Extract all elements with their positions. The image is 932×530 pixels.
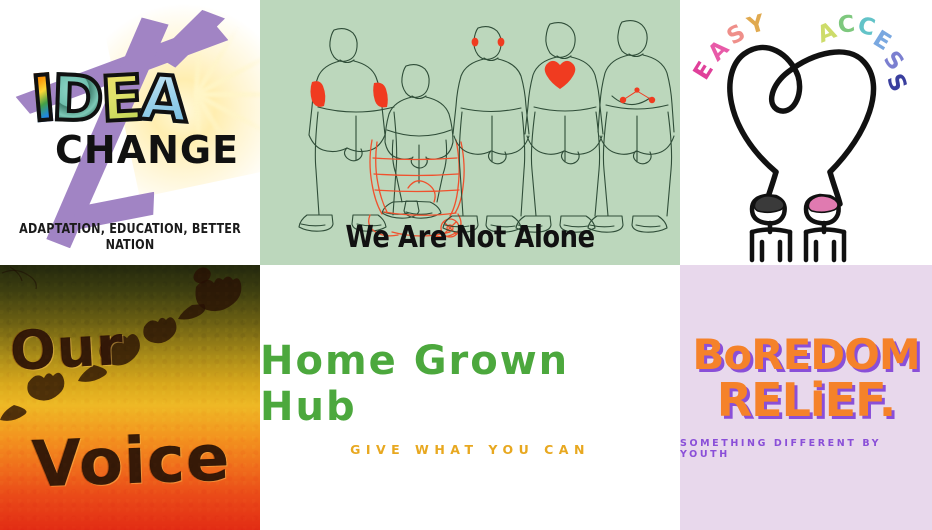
tile-idea-change[interactable]: I D E A CHANGE ADAPTATION, EDUCATION, BE…: [0, 0, 260, 265]
figure-wheelchair-2: [382, 65, 453, 219]
boredom-relief-line1: BoREDOM: [692, 335, 919, 375]
access-letter-2: C: [836, 11, 856, 39]
idea-letter-a: A: [138, 67, 187, 132]
single-line-heart-icon: [730, 48, 874, 204]
tile-home-grown-hub[interactable]: Home Grown Hub GIVE WHAT YOU CAN: [260, 265, 680, 530]
our-voice-line2: Voice: [31, 422, 232, 503]
boredom-relief-line2: RELiEF.: [717, 378, 895, 422]
logo-collage-grid: I D E A CHANGE ADAPTATION, EDUCATION, BE…: [0, 0, 932, 530]
tile-our-voice[interactable]: Our Voice: [0, 265, 260, 530]
brain-left-icon: [754, 196, 784, 212]
hand-shape: [178, 304, 205, 320]
red-dots-accent: [620, 87, 655, 103]
idea-wordmark: I D E A: [32, 68, 185, 130]
idea-subheadline: CHANGE: [55, 128, 239, 172]
tile-boredom-relief[interactable]: BoREDOM RELiEF. SOMETHING DIFFERENT BY Y…: [680, 265, 932, 530]
figure-standing-5: [588, 21, 674, 233]
red-sleeve-accent: [311, 81, 388, 107]
home-grown-hub-title: Home Grown Hub: [260, 338, 680, 430]
tile-we-are-not-alone[interactable]: We Are Not Alone: [260, 0, 680, 265]
brain-right-icon: [808, 196, 838, 212]
idea-letter-e: E: [99, 67, 142, 131]
hand-shape: [0, 405, 26, 421]
we-are-not-alone-title: We Are Not Alone: [289, 220, 650, 255]
home-grown-hub-subtitle: GIVE WHAT YOU CAN: [350, 442, 590, 457]
idea-letter-d: D: [51, 67, 102, 131]
bird-shape: [143, 317, 176, 343]
boredom-relief-subtitle: SOMETHING DIFFERENT BY YOUTH: [680, 438, 932, 460]
red-ear-accent: [472, 38, 505, 47]
red-heart-icon: [545, 61, 576, 89]
tile-easy-access[interactable]: E A S Y A C C E S S: [680, 0, 932, 265]
idea-tagline: ADAPTATION, EDUCATION, BETTER NATION: [10, 221, 249, 253]
our-voice-line1: Our: [8, 314, 125, 383]
figure-standing-4: [516, 23, 603, 233]
